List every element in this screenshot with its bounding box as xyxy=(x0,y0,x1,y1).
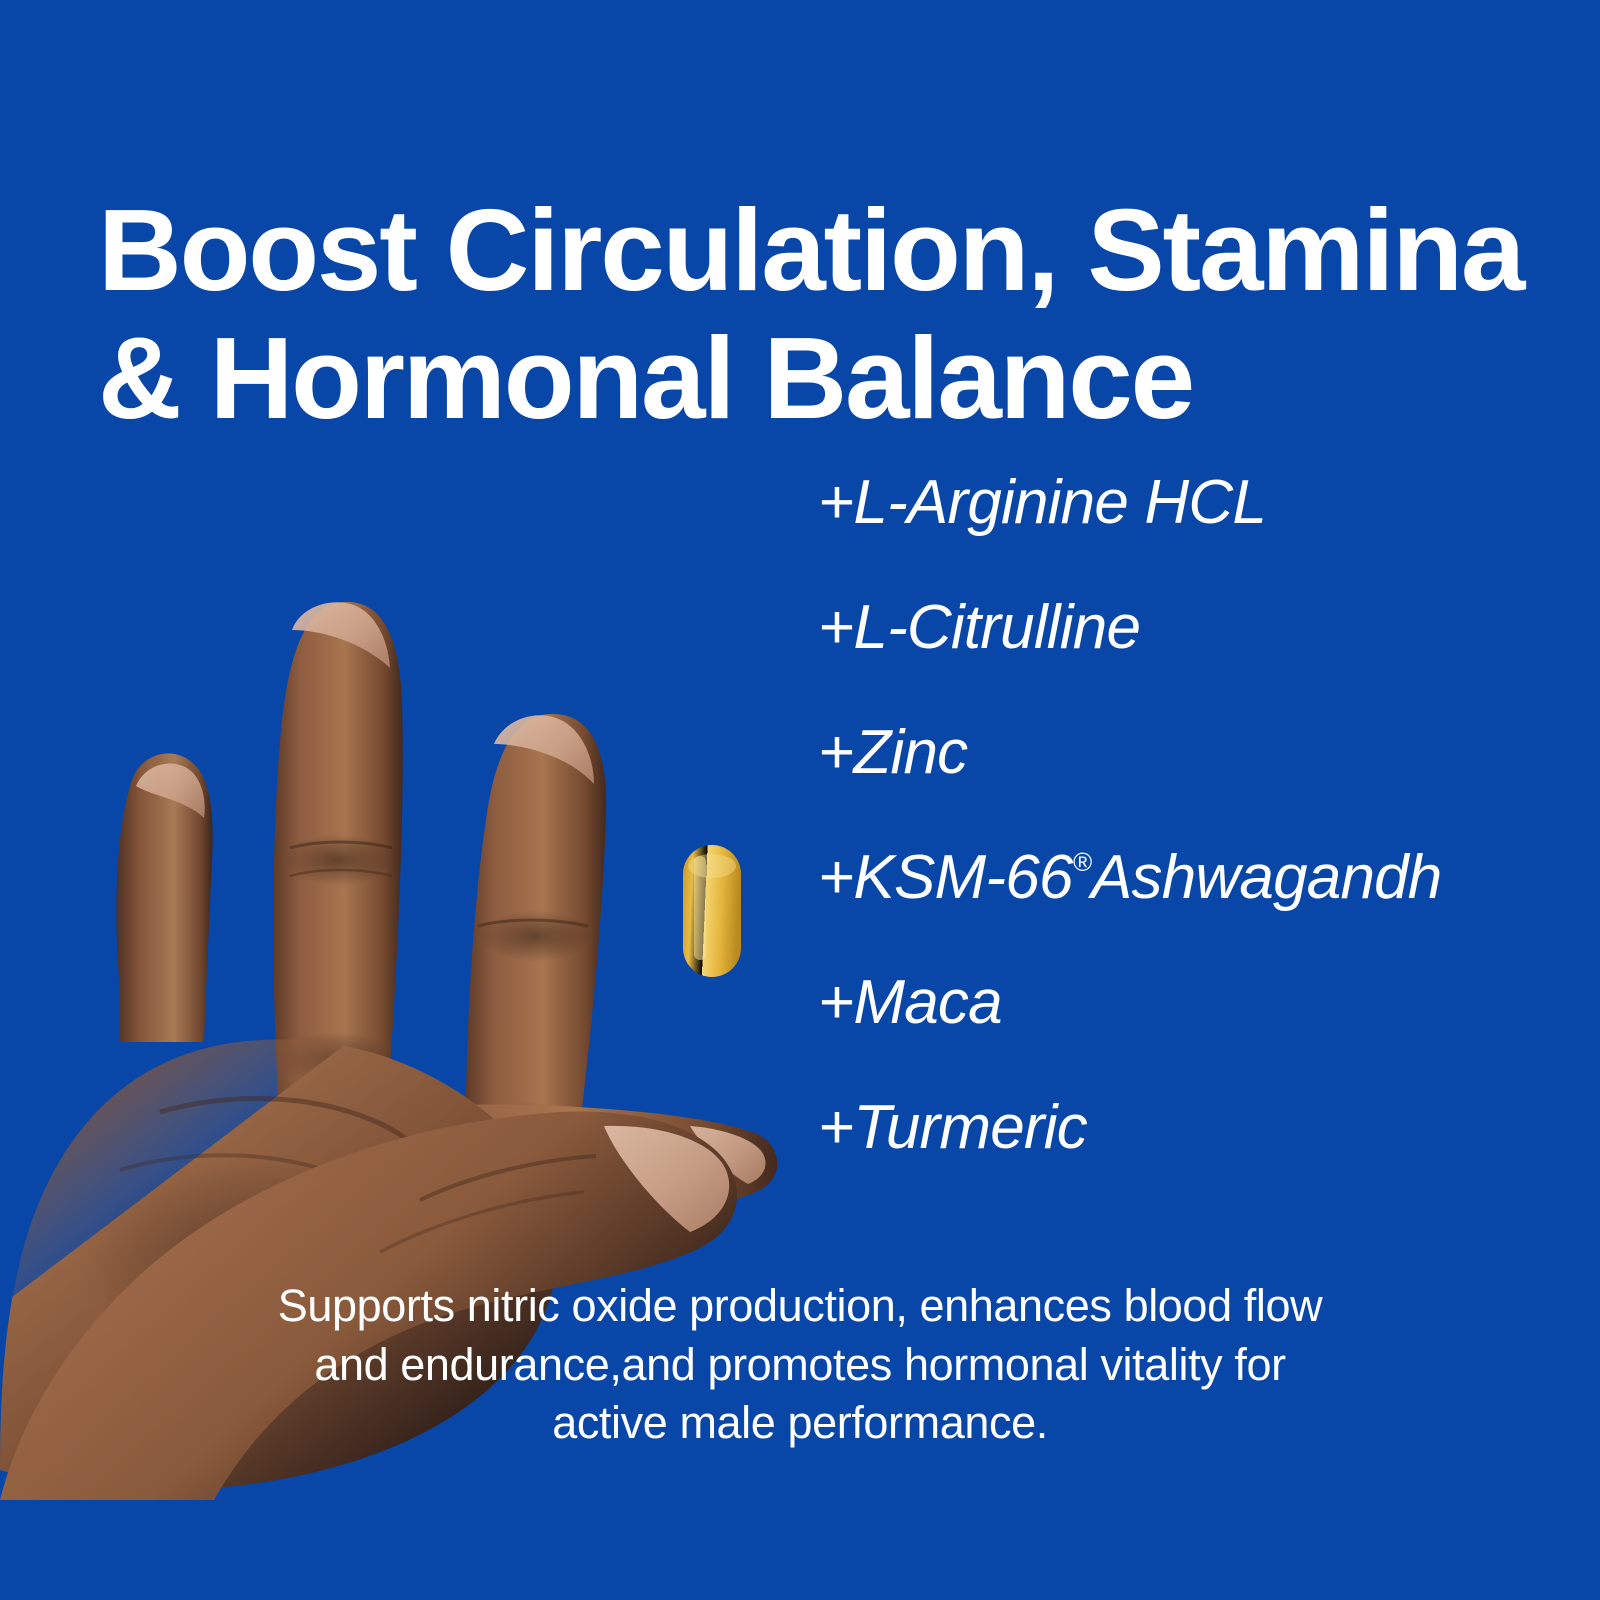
list-item: +L-Arginine HCL xyxy=(818,440,1600,565)
list-item: +Turmeric xyxy=(818,1065,1600,1190)
list-item: +L-Citrulline xyxy=(818,565,1600,690)
list-item-ksm66: +KSM-66®Ashwagandh xyxy=(818,815,1600,940)
description-text: Supports nitric oxide production, enhanc… xyxy=(120,1277,1480,1453)
ingredient-prefix: + xyxy=(818,847,853,909)
ingredient-list: +L-Arginine HCL +L-Citrulline +Zinc +KSM… xyxy=(818,440,1600,1190)
ingredient-suffix: Ashwagandh xyxy=(1091,847,1442,909)
ingredient-brand: KSM-66 xyxy=(853,847,1072,909)
page-title: Boost Circulation, Stamina & Hormonal Ba… xyxy=(98,186,1528,444)
list-item: +Maca xyxy=(818,940,1600,1065)
product-graphic-canvas: Boost Circulation, Stamina & Hormonal Ba… xyxy=(0,0,1600,1600)
list-item: +Zinc xyxy=(818,690,1600,815)
